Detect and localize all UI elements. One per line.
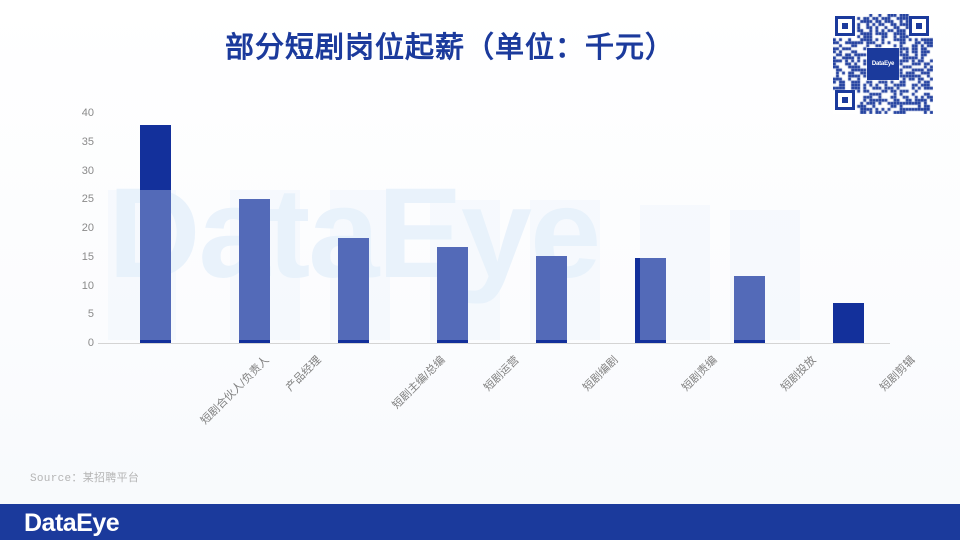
bar-chart: 0510152025303540 短剧合伙人/负责人产品经理短剧主编/总编短剧运…: [0, 0, 960, 540]
bar[interactable]: [536, 256, 567, 343]
bar[interactable]: [437, 247, 468, 343]
bars-and-labels: 短剧合伙人/负责人产品经理短剧主编/总编短剧运营短剧编剧短剧责编短剧投放短剧剪辑: [0, 0, 960, 540]
x-axis-tick-label: 产品经理: [281, 352, 323, 394]
bar[interactable]: [833, 303, 864, 343]
x-axis-tick-label: 短剧运营: [479, 352, 521, 394]
slide-canvas: 部分短剧岗位起薪（单位：千元） DataEye DataEye 05101520…: [0, 0, 960, 540]
x-axis-tick-label: 短剧剪辑: [875, 352, 917, 394]
bar[interactable]: [734, 276, 765, 343]
bar[interactable]: [338, 238, 369, 343]
x-axis-tick-label: 短剧责编: [677, 352, 719, 394]
x-axis-tick-label: 短剧合伙人/负责人: [196, 352, 272, 428]
bar[interactable]: [140, 125, 171, 344]
x-axis-tick-label: 短剧编剧: [578, 352, 620, 394]
x-axis-tick-label: 短剧主编/总编: [388, 352, 448, 412]
bar[interactable]: [239, 199, 270, 343]
x-axis-tick-label: 短剧投放: [776, 352, 818, 394]
bar[interactable]: [635, 258, 666, 343]
